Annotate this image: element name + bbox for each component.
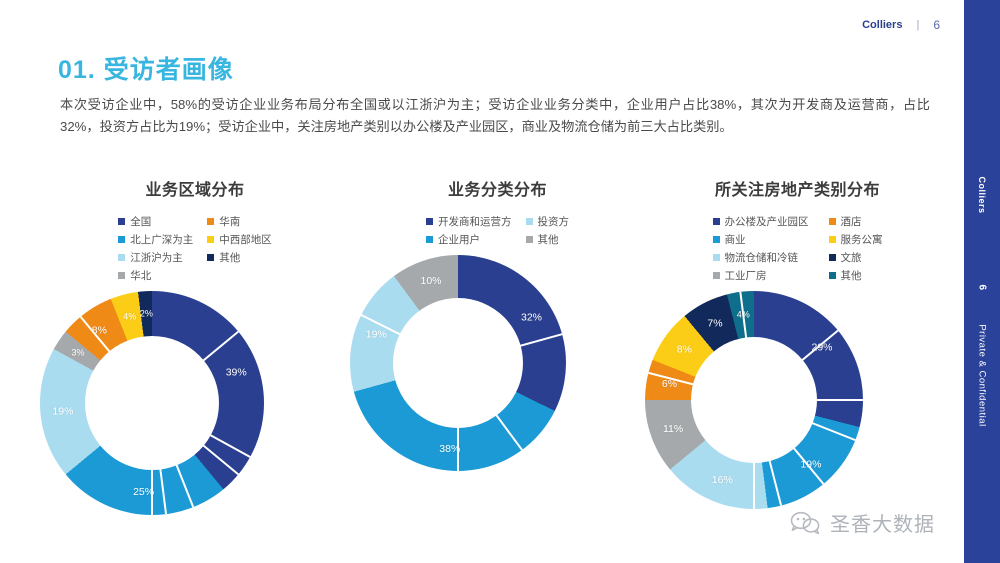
watermark-text: 圣香大数据: [830, 508, 935, 537]
rail-confidential-label: Private & Confidential: [977, 324, 988, 426]
legend-swatch: [829, 236, 836, 243]
slice-label: 19%: [52, 405, 73, 417]
legend-label: 华北: [130, 268, 151, 283]
legend-label: 办公楼及产业园区: [725, 214, 809, 229]
slice-label: 10%: [420, 275, 441, 287]
legend-label: 服务公寓: [841, 232, 883, 247]
slice-label: 11%: [663, 423, 683, 435]
legend-label: 北上广深为主: [130, 232, 193, 247]
legend-item[interactable]: 服务公寓: [829, 232, 883, 247]
watermark: 圣香大数据: [790, 508, 935, 537]
donut-wrap-business-type: 32%38%19%10%: [350, 255, 645, 471]
legend-swatch: [829, 254, 836, 261]
summary-paragraph: 本次受访企业中，58%的受访企业业务布局分布全国或以江浙沪为主；受访企业业务分类…: [60, 94, 930, 138]
legend-label: 中西部地区: [219, 232, 272, 247]
legend-swatch: [118, 236, 125, 243]
slice-label: 8%: [677, 344, 692, 356]
slice-label: 3%: [71, 348, 84, 358]
legend-item[interactable]: 工业厂房: [713, 268, 809, 283]
slice-separator: [152, 402, 251, 458]
header-page-number: 6: [933, 18, 940, 32]
legend-item[interactable]: 企业用户: [426, 232, 512, 247]
slice-label: 38%: [439, 443, 460, 455]
legend-swatch: [207, 218, 214, 225]
legend-swatch: [426, 236, 433, 243]
slice-separator: [151, 403, 153, 515]
slice-separator: [754, 399, 856, 441]
slice-separator: [753, 399, 824, 484]
legend-swatch: [526, 236, 533, 243]
slice-label: 32%: [521, 311, 542, 323]
legend-item[interactable]: 北上广深为主: [118, 232, 193, 247]
page-title: 01. 受访者画像: [58, 50, 234, 86]
legend-swatch: [207, 254, 214, 261]
rail-page-number: 6: [977, 284, 988, 290]
donut-chart-business-type[interactable]: 32%38%19%10%: [350, 255, 566, 471]
slide-canvas: Colliers | 6 Colliers 6 Private & Confid…: [0, 0, 1000, 563]
legend-item[interactable]: 其他: [526, 232, 570, 247]
chart-title-region: 业务区域分布: [40, 172, 350, 200]
legend-label: 其他: [841, 268, 862, 283]
slice-separator: [151, 402, 239, 475]
slice-separator: [457, 362, 523, 450]
slice-separator: [739, 292, 755, 400]
legend-label: 开发商和运营方: [438, 214, 512, 229]
legend-item[interactable]: 酒店: [829, 214, 883, 229]
legend-item[interactable]: 其他: [207, 250, 272, 265]
legend-label: 酒店: [841, 214, 862, 229]
legend-label: 华南: [219, 214, 240, 229]
legend-label: 商业: [725, 232, 746, 247]
legend-item[interactable]: 华南: [207, 214, 272, 229]
donut-wrap-property-category: 29%19%16%11%6%8%7%4%: [645, 291, 950, 509]
legend-label: 物流仓储和冷链: [725, 250, 799, 265]
slice-label: 6%: [662, 378, 677, 390]
slice-label: 4%: [123, 311, 136, 321]
legend-swatch: [713, 272, 720, 279]
slice-separator: [151, 403, 194, 508]
chart-title-business-type: 业务分类分布: [350, 172, 645, 200]
legend-label: 工业厂房: [725, 268, 767, 283]
legend-item[interactable]: 中西部地区: [207, 232, 272, 247]
wechat-icon: [790, 511, 820, 535]
legend-label: 投资方: [538, 214, 570, 229]
donut-wrap-region: 39%25%19%3%8%4%2%: [40, 291, 350, 515]
chart-title-property-category: 所关注房地产类别分布: [645, 172, 950, 200]
donut-chart-property-category[interactable]: 29%19%16%11%6%8%7%4%: [645, 291, 863, 509]
legend-item[interactable]: 文旅: [829, 250, 883, 265]
slice-label: 25%: [133, 486, 154, 498]
legend-swatch: [207, 236, 214, 243]
legend-swatch: [829, 272, 836, 279]
legend-swatch: [526, 218, 533, 225]
legend-item[interactable]: 投资方: [526, 214, 570, 229]
legend-label: 全国: [130, 214, 151, 229]
legend-swatch: [713, 218, 720, 225]
slice-label: 16%: [712, 474, 733, 486]
legend-item[interactable]: 开发商和运营方: [426, 214, 512, 229]
chart-block-region-distribution: 业务区域分布 全国华南北上广深为主中西部地区江浙沪为主其他华北 39%25%19…: [40, 172, 350, 532]
chart-legend-property-category: 办公楼及产业园区酒店商业服务公寓物流仓储和冷链文旅工业厂房其他: [713, 214, 883, 283]
legend-swatch: [118, 272, 125, 279]
legend-item[interactable]: 其他: [829, 268, 883, 283]
slice-separator: [753, 400, 755, 509]
legend-item[interactable]: 华北: [118, 268, 193, 283]
legend-label: 其他: [219, 250, 240, 265]
slice-label: 19%: [366, 329, 387, 341]
slice-label: 19%: [800, 459, 821, 471]
legend-label: 江浙沪为主: [130, 250, 183, 265]
right-rail: Colliers 6 Private & Confidential: [964, 0, 1000, 563]
chart-block-business-type: 业务分类分布 开发商和运营方投资方企业用户其他 32%38%19%10%: [350, 172, 645, 532]
legend-item[interactable]: 江浙沪为主: [118, 250, 193, 265]
chart-legend-region: 全国华南北上广深为主中西部地区江浙沪为主其他华北: [118, 214, 272, 283]
slide-header: Colliers | 6: [862, 18, 940, 32]
legend-swatch: [426, 218, 433, 225]
slice-label: 8%: [92, 325, 107, 337]
legend-item[interactable]: 物流仓储和冷链: [713, 250, 809, 265]
chart-legend-business-type: 开发商和运营方投资方企业用户其他: [426, 214, 569, 247]
header-separator: |: [916, 19, 919, 31]
legend-swatch: [713, 254, 720, 261]
slice-separator: [753, 400, 782, 506]
rail-brand: Colliers: [977, 176, 987, 213]
legend-swatch: [829, 218, 836, 225]
slice-label: 29%: [811, 341, 832, 353]
slice-label: 4%: [737, 310, 750, 320]
slice-separator: [80, 316, 153, 404]
legend-label: 其他: [538, 232, 559, 247]
legend-label: 企业用户: [438, 232, 480, 247]
slice-separator: [754, 399, 863, 401]
header-brand: Colliers: [862, 19, 902, 31]
legend-swatch: [118, 254, 125, 261]
slice-label: 39%: [226, 367, 247, 379]
legend-swatch: [118, 218, 125, 225]
legend-item[interactable]: 办公楼及产业园区: [713, 214, 809, 229]
chart-block-property-category: 所关注房地产类别分布 办公楼及产业园区酒店商业服务公寓物流仓储和冷链文旅工业厂房…: [645, 172, 950, 532]
slice-separator: [458, 333, 563, 364]
legend-swatch: [713, 236, 720, 243]
legend-item[interactable]: 全国: [118, 214, 193, 229]
slice-label: 7%: [707, 317, 722, 329]
charts-row: 业务区域分布 全国华南北上广深为主中西部地区江浙沪为主其他华北 39%25%19…: [40, 172, 950, 532]
legend-label: 文旅: [841, 250, 862, 265]
legend-item[interactable]: 商业: [713, 232, 809, 247]
donut-chart-region[interactable]: 39%25%19%3%8%4%2%: [40, 291, 264, 515]
slice-label: 2%: [140, 309, 153, 319]
